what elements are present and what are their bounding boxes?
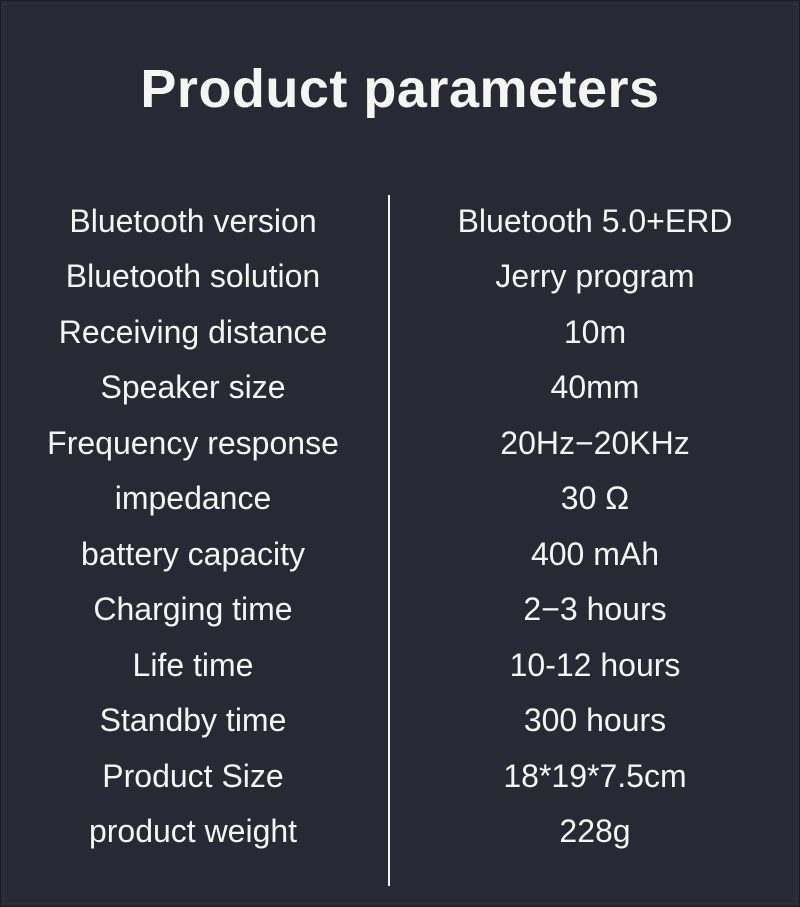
spec-row: impedance30 Ω [0, 472, 800, 528]
spec-value-cell: 400 mAh [388, 538, 800, 572]
spec-row: Bluetooth solutionJerry program [0, 250, 800, 306]
spec-row: Life time10-12 hours [0, 638, 800, 694]
spec-value-cell: 10-12 hours [388, 649, 800, 683]
spec-value-cell: 300 hours [388, 704, 800, 738]
spec-label: Life time [133, 649, 254, 683]
spec-label-cell: battery capacity [0, 538, 388, 572]
spec-value: 2−3 hours [523, 593, 666, 627]
spec-label: Speaker size [101, 371, 286, 405]
spec-value: 30 Ω [561, 482, 629, 516]
spec-row: battery capacity400 mAh [0, 527, 800, 583]
spec-value-cell: Bluetooth 5.0+ERD [388, 205, 800, 239]
spec-value-cell: 10m [388, 316, 800, 350]
spec-label-cell: Bluetooth solution [0, 260, 388, 294]
spec-value: 228g [559, 815, 630, 849]
spec-value: 18*19*7.5cm [503, 760, 686, 794]
spec-row: Bluetooth versionBluetooth 5.0+ERD [0, 194, 800, 250]
spec-value: 300 hours [524, 704, 666, 738]
spec-row: Product Size18*19*7.5cm [0, 749, 800, 805]
spec-value: 10m [564, 316, 626, 350]
spec-value: 400 mAh [531, 538, 659, 572]
spec-label-cell: product weight [0, 815, 388, 849]
spec-row: product weight228g [0, 805, 800, 861]
spec-value: 40mm [551, 371, 640, 405]
spec-label: Charging time [93, 593, 292, 627]
spec-label-cell: Speaker size [0, 371, 388, 405]
spec-label: battery capacity [81, 538, 305, 572]
spec-label-cell: Frequency response [0, 427, 388, 461]
spec-value: 10-12 hours [510, 649, 681, 683]
spec-value-cell: 18*19*7.5cm [388, 760, 800, 794]
spec-label: Product Size [102, 760, 283, 794]
spec-row: Charging time2−3 hours [0, 583, 800, 639]
spec-table: Bluetooth versionBluetooth 5.0+ERDBlueto… [0, 194, 800, 860]
spec-label-cell: Receiving distance [0, 316, 388, 350]
spec-value-cell: 20Hz−20KHz [388, 427, 800, 461]
spec-row: Receiving distance10m [0, 305, 800, 361]
product-parameters-card: Product parameters Bluetooth versionBlue… [0, 0, 800, 907]
spec-label-cell: Product Size [0, 760, 388, 794]
spec-label-cell: Standby time [0, 704, 388, 738]
spec-value-cell: Jerry program [388, 260, 800, 294]
spec-label-cell: Bluetooth version [0, 205, 388, 239]
spec-label: product weight [89, 815, 297, 849]
spec-value-cell: 30 Ω [388, 482, 800, 516]
spec-label-cell: Life time [0, 649, 388, 683]
title-row: Product parameters [0, 62, 800, 116]
spec-value-cell: 228g [388, 815, 800, 849]
spec-value-cell: 40mm [388, 371, 800, 405]
spec-label: Bluetooth solution [66, 260, 320, 294]
spec-row: Frequency response20Hz−20KHz [0, 416, 800, 472]
spec-label: impedance [115, 482, 272, 516]
spec-value: Jerry program [495, 260, 694, 294]
spec-label: Receiving distance [59, 316, 328, 350]
spec-row: Standby time300 hours [0, 694, 800, 750]
spec-label: Standby time [100, 704, 287, 738]
spec-row: Speaker size40mm [0, 361, 800, 417]
page-title: Product parameters [140, 62, 659, 116]
spec-value: Bluetooth 5.0+ERD [458, 205, 733, 239]
spec-value: 20Hz−20KHz [500, 427, 689, 461]
spec-value-cell: 2−3 hours [388, 593, 800, 627]
spec-label: Bluetooth version [69, 205, 316, 239]
spec-label-cell: Charging time [0, 593, 388, 627]
spec-label-cell: impedance [0, 482, 388, 516]
spec-label: Frequency response [47, 427, 339, 461]
